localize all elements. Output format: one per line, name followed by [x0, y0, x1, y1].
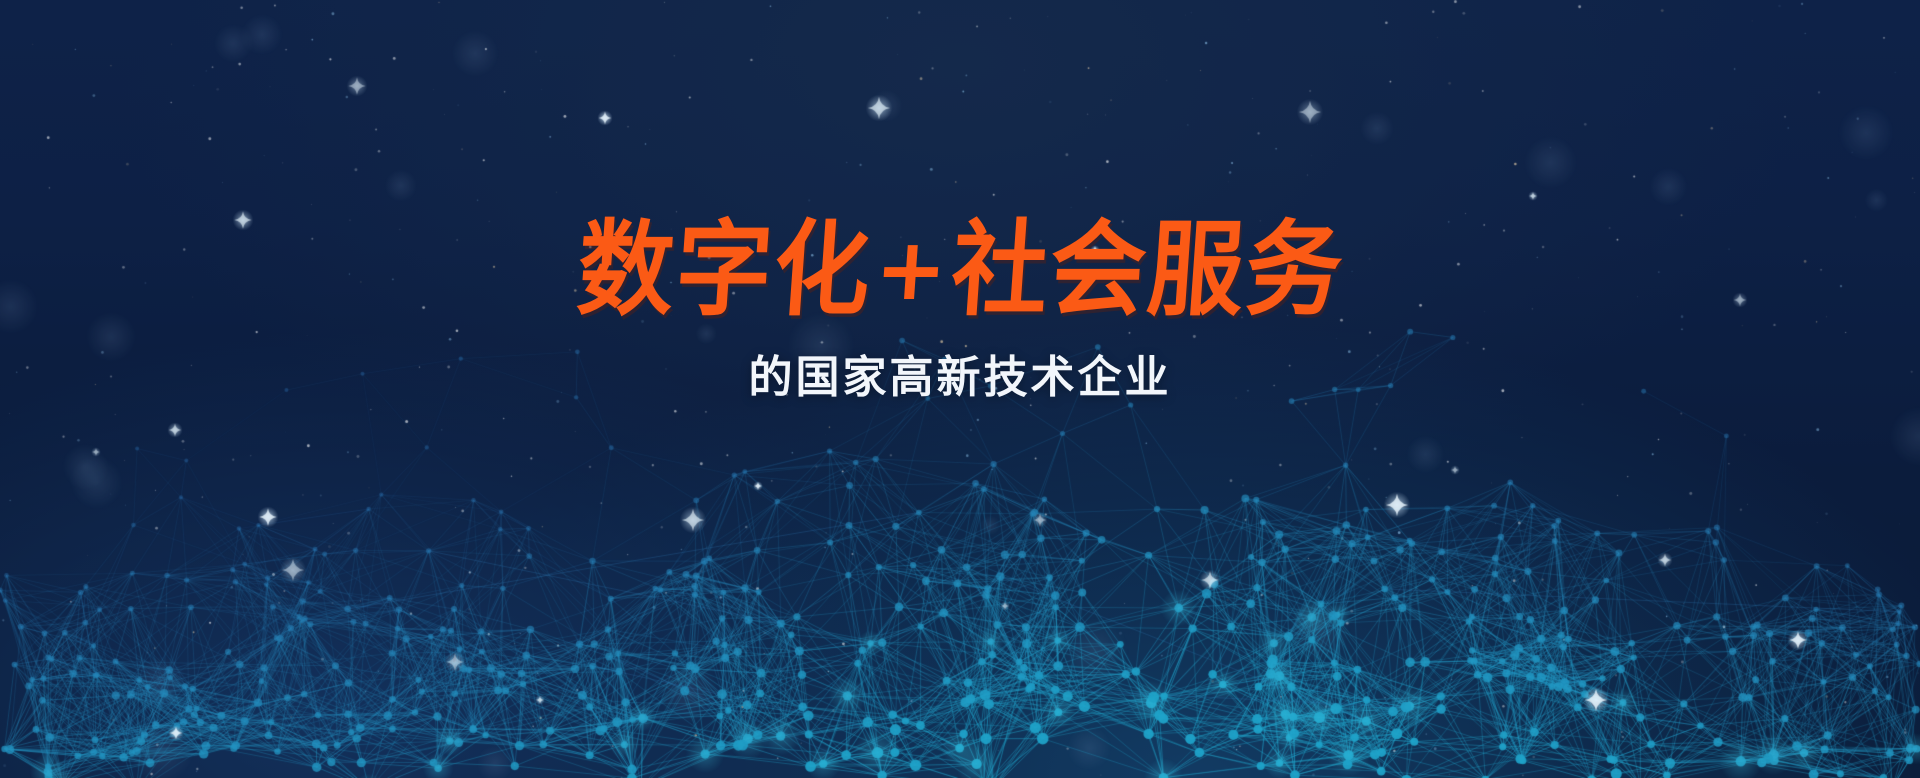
title-plus-sign: +: [868, 227, 954, 313]
title-char-1: 字: [671, 218, 776, 322]
title-char-6: 服: [1143, 218, 1248, 322]
banner-subtitle: 的国家高新技术企业: [0, 341, 1920, 405]
title-char-7: 务: [1241, 218, 1346, 322]
hero-banner: 数 字 化 + 社 会 服 务 的国家高新技术企业: [0, 0, 1920, 778]
title-char-5: 会: [1045, 218, 1150, 322]
banner-title: 数 字 化 + 社 会 服 务: [0, 222, 1920, 318]
title-char-2: 化: [769, 218, 874, 322]
title-char-4: 社: [947, 218, 1052, 322]
title-char-0: 数: [573, 218, 678, 322]
